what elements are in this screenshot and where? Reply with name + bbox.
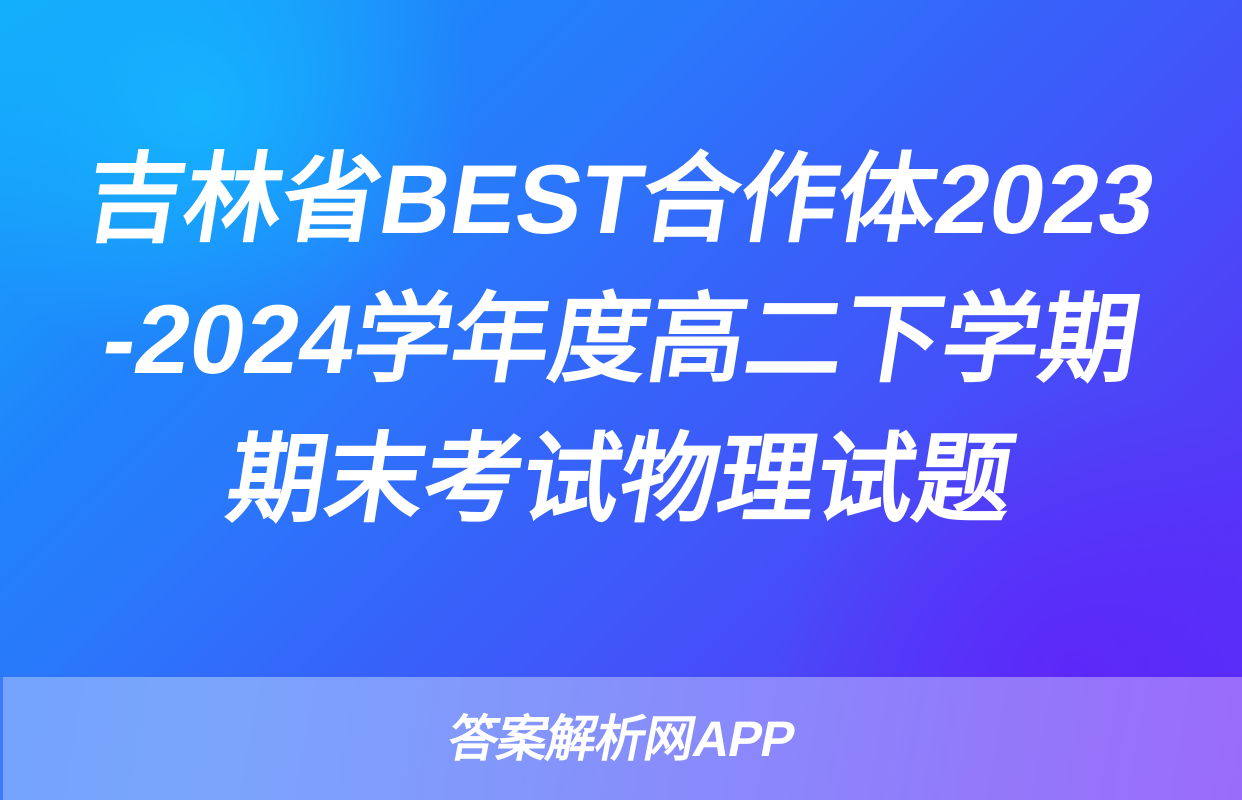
watermark-band: 答案解析网APP <box>0 677 1242 800</box>
exam-cover-card: 吉林省BEST合作体2023 -2024学年度高二下学期 期末考试物理试题 答案… <box>0 0 1242 800</box>
band-left-edge <box>0 677 3 800</box>
watermark-app-label: 答案解析网APP <box>443 711 799 767</box>
title-line-1: 吉林省BEST合作体2023 <box>76 129 1166 269</box>
title-block: 吉林省BEST合作体2023 -2024学年度高二下学期 期末考试物理试题 <box>0 0 1242 677</box>
title-line-3: 期末考试物理试题 <box>218 409 1024 549</box>
title-line-2: -2024学年度高二下学期 <box>93 269 1150 409</box>
